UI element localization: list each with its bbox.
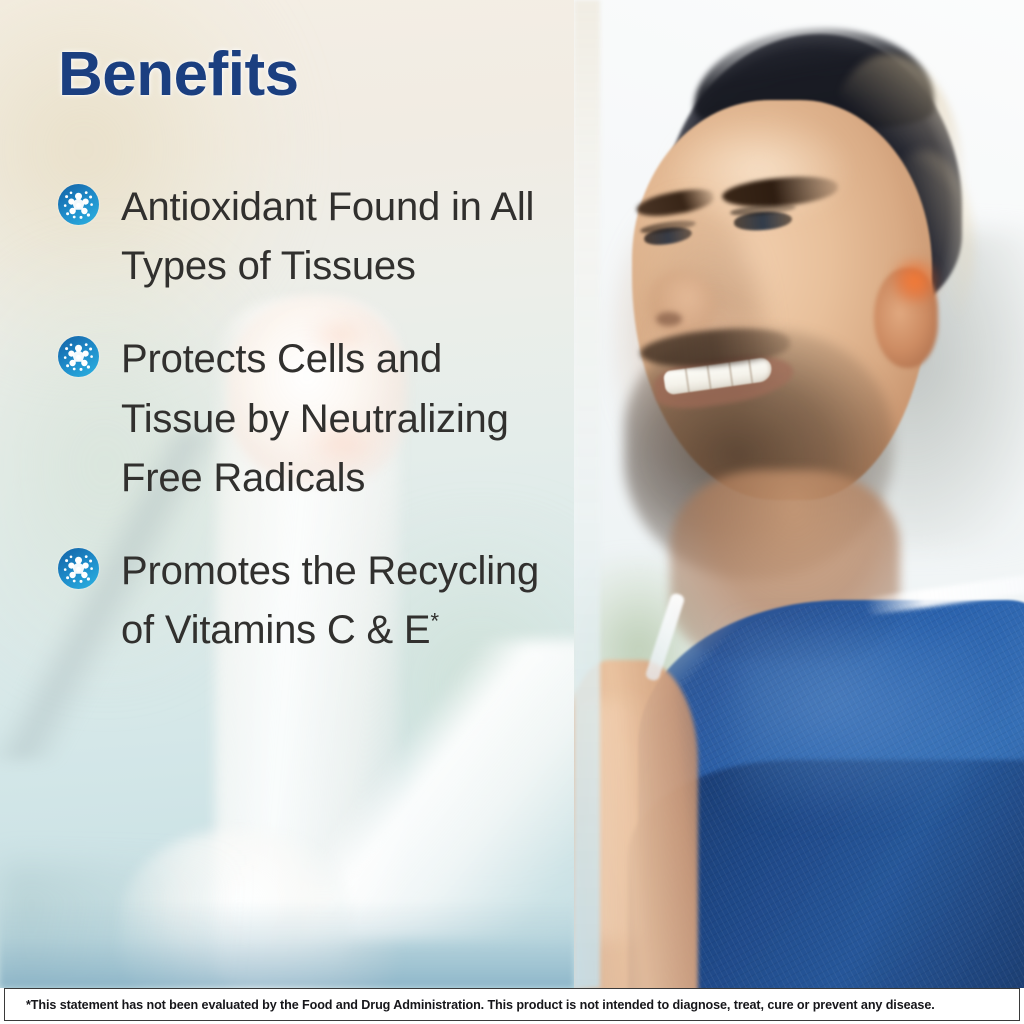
photo-ear-backlight-glow: [892, 258, 938, 304]
fda-disclaimer-box: *This statement has not been evaluated b…: [4, 988, 1020, 1021]
fda-disclaimer-text: *This statement has not been evaluated b…: [5, 998, 935, 1012]
photo-nostril: [656, 312, 682, 326]
benefits-infographic: Benefits: [0, 0, 1024, 1024]
footnote-marker: *: [430, 609, 439, 634]
list-item-label: Promotes the Recycling of Vitamins C & E…: [121, 542, 558, 660]
benefits-content: Benefits: [0, 0, 574, 988]
photo-teeth-gap: [685, 368, 690, 392]
photo-teeth-gap: [748, 359, 753, 383]
list-item-label: Antioxidant Found in All Types of Tissue…: [121, 178, 558, 296]
hero-photo: [574, 0, 1024, 988]
photo-shirt-highlight: [734, 630, 984, 810]
benefits-list: Antioxidant Found in All Types of Tissue…: [58, 178, 558, 694]
list-item-label: Protects Cells and Tissue by Neutralizin…: [121, 330, 558, 508]
molecule-icon: [58, 336, 99, 377]
molecule-icon: [58, 184, 99, 225]
photo-teeth-gap: [728, 362, 733, 386]
photo-nose: [646, 270, 716, 340]
list-item: Promotes the Recycling of Vitamins C & E…: [58, 542, 558, 660]
photo-teeth-gap: [706, 365, 711, 389]
page-title: Benefits: [58, 44, 299, 106]
list-item-text: Promotes the Recycling of Vitamins C & E: [121, 549, 539, 652]
list-item: Antioxidant Found in All Types of Tissue…: [58, 178, 558, 296]
photo-left-edge-wash: [574, 0, 600, 988]
molecule-icon: [58, 548, 99, 589]
list-item: Protects Cells and Tissue by Neutralizin…: [58, 330, 558, 508]
